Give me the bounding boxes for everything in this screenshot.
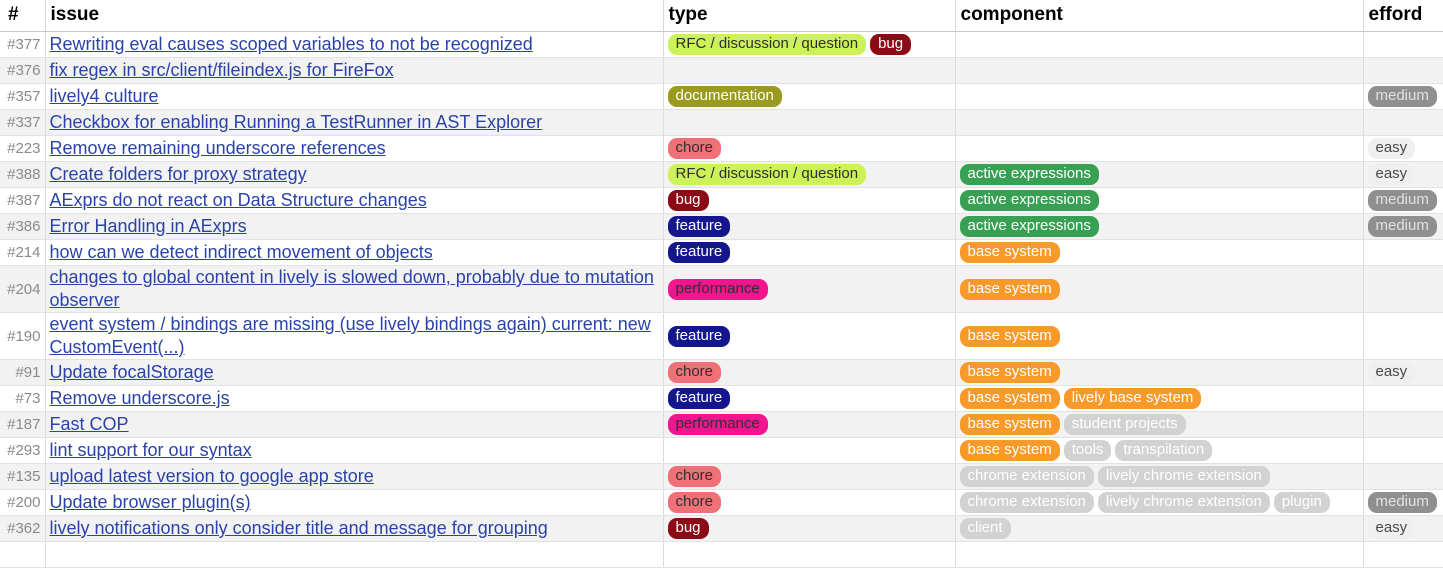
issue-link[interactable]: Create folders for proxy strategy (50, 164, 307, 184)
type-cell: documentation (663, 84, 955, 110)
issue-link[interactable]: lively notifications only consider title… (50, 518, 548, 538)
efford-cell: medium (1363, 188, 1443, 214)
issue-link[interactable]: upload latest version to google app stor… (50, 466, 374, 486)
issue-number: #223 (0, 136, 45, 162)
type-badge[interactable]: feature (668, 242, 731, 263)
issue-title-cell: Remove underscore.js (45, 386, 663, 412)
type-badge[interactable]: chore (668, 138, 722, 159)
issue-link[interactable]: Update focalStorage (50, 362, 214, 382)
component-cell (955, 58, 1363, 84)
issue-number: #204 (0, 266, 45, 313)
table-row[interactable] (0, 542, 1443, 568)
header-row: # issue type component efford (0, 0, 1443, 32)
component-badge[interactable]: base system (960, 362, 1060, 383)
type-cell (663, 542, 955, 568)
column-header-type[interactable]: type (663, 0, 955, 32)
component-badge[interactable]: active expressions (960, 216, 1099, 237)
issue-link[interactable]: event system / bindings are missing (use… (50, 314, 651, 357)
table-row[interactable]: #214how can we detect indirect movement … (0, 240, 1443, 266)
issue-number: #388 (0, 162, 45, 188)
component-cell: base systemtoolstranspilation (955, 438, 1363, 464)
component-badge[interactable]: chrome extension (960, 492, 1094, 513)
efford-cell: easy (1363, 162, 1443, 188)
component-cell (955, 32, 1363, 58)
component-cell: base system (955, 360, 1363, 386)
efford-cell: medium (1363, 490, 1443, 516)
type-badge[interactable]: RFC / discussion / question (668, 164, 867, 185)
component-badge[interactable]: base system (960, 279, 1060, 300)
table-row[interactable]: #91Update focalStoragechorebase systemea… (0, 360, 1443, 386)
efford-cell: easy (1363, 360, 1443, 386)
efford-cell: medium (1363, 214, 1443, 240)
issue-link[interactable]: how can we detect indirect movement of o… (50, 242, 433, 262)
issue-number: #357 (0, 84, 45, 110)
table-row[interactable]: #190event system / bindings are missing … (0, 313, 1443, 360)
type-cell: chore (663, 490, 955, 516)
component-badge[interactable]: tools (1064, 440, 1112, 461)
component-cell (955, 110, 1363, 136)
table-row[interactable]: #200Update browser plugin(s)chorechrome … (0, 490, 1443, 516)
type-cell: bug (663, 516, 955, 542)
component-cell (955, 542, 1363, 568)
issue-title-cell: how can we detect indirect movement of o… (45, 240, 663, 266)
component-cell: active expressions (955, 188, 1363, 214)
component-cell: base system (955, 313, 1363, 360)
type-badge[interactable]: feature (668, 388, 731, 409)
component-cell: active expressions (955, 214, 1363, 240)
efford-cell (1363, 386, 1443, 412)
issue-link[interactable]: changes to global content in lively is s… (50, 267, 654, 310)
issue-title-cell: changes to global content in lively is s… (45, 266, 663, 313)
issue-number: #377 (0, 32, 45, 58)
component-badge[interactable]: client (960, 518, 1011, 539)
efford-cell: easy (1363, 136, 1443, 162)
type-cell: RFC / discussion / question (663, 162, 955, 188)
issue-title-cell: Create folders for proxy strategy (45, 162, 663, 188)
table-row[interactable]: #388Create folders for proxy strategyRFC… (0, 162, 1443, 188)
component-badge[interactable]: chrome extension (960, 466, 1094, 487)
type-badge[interactable]: bug (870, 34, 911, 55)
component-cell: base systemstudent projects (955, 412, 1363, 438)
table-row[interactable]: #135upload latest version to google app … (0, 464, 1443, 490)
issue-title-cell: AExprs do not react on Data Structure ch… (45, 188, 663, 214)
issue-number: #337 (0, 110, 45, 136)
issue-title-cell: fix regex in src/client/fileindex.js for… (45, 58, 663, 84)
table-body: #377Rewriting eval causes scoped variabl… (0, 32, 1443, 568)
issue-number: #187 (0, 412, 45, 438)
component-badge[interactable]: active expressions (960, 164, 1099, 185)
issue-title-cell: upload latest version to google app stor… (45, 464, 663, 490)
efford-cell (1363, 110, 1443, 136)
issue-link[interactable]: Remove remaining underscore references (50, 138, 386, 158)
issue-link[interactable]: AExprs do not react on Data Structure ch… (50, 190, 427, 210)
component-cell (955, 84, 1363, 110)
type-cell: feature (663, 313, 955, 360)
component-cell: base system (955, 266, 1363, 313)
efford-cell (1363, 58, 1443, 84)
issue-number: #387 (0, 188, 45, 214)
type-cell: chore (663, 360, 955, 386)
issue-number: #91 (0, 360, 45, 386)
type-cell (663, 438, 955, 464)
issue-title-cell: Checkbox for enabling Running a TestRunn… (45, 110, 663, 136)
table-row[interactable]: #337Checkbox for enabling Running a Test… (0, 110, 1443, 136)
type-cell: performance (663, 266, 955, 313)
type-cell: feature (663, 386, 955, 412)
type-cell (663, 58, 955, 84)
component-badge[interactable]: lively chrome extension (1098, 466, 1270, 487)
type-badge[interactable]: bug (668, 518, 709, 539)
table-row[interactable]: #187Fast COPperformancebase systemstuden… (0, 412, 1443, 438)
efford-badge[interactable]: easy (1368, 138, 1416, 159)
issue-title-cell (45, 542, 663, 568)
issue-number: #376 (0, 58, 45, 84)
type-badge[interactable]: feature (668, 326, 731, 347)
efford-cell (1363, 542, 1443, 568)
efford-cell (1363, 240, 1443, 266)
issue-link[interactable]: Error Handling in AExprs (50, 216, 247, 236)
type-cell: chore (663, 464, 955, 490)
column-header-efford[interactable]: efford (1363, 0, 1443, 32)
table-row[interactable]: #204changes to global content in lively … (0, 266, 1443, 313)
component-badge[interactable]: lively base system (1064, 388, 1202, 409)
table-row[interactable]: #362lively notifications only consider t… (0, 516, 1443, 542)
component-badge[interactable]: plugin (1274, 492, 1330, 513)
type-badge[interactable]: documentation (668, 86, 782, 107)
component-badge[interactable]: base system (960, 414, 1060, 435)
component-cell: base systemlively base system (955, 386, 1363, 412)
type-cell: feature (663, 214, 955, 240)
type-badge[interactable]: bug (668, 190, 709, 211)
component-cell: client (955, 516, 1363, 542)
issue-title-cell: lively notifications only consider title… (45, 516, 663, 542)
column-header-number[interactable]: # (0, 0, 45, 32)
efford-cell (1363, 438, 1443, 464)
type-badge[interactable]: chore (668, 492, 722, 513)
efford-badge[interactable]: easy (1368, 362, 1416, 383)
issue-link[interactable]: fix regex in src/client/fileindex.js for… (50, 60, 394, 80)
component-cell: active expressions (955, 162, 1363, 188)
type-cell: feature (663, 240, 955, 266)
issue-number: #190 (0, 313, 45, 360)
efford-badge[interactable]: medium (1368, 492, 1437, 513)
efford-cell (1363, 464, 1443, 490)
component-badge[interactable]: base system (960, 326, 1060, 347)
issue-link[interactable]: Fast COP (50, 414, 129, 434)
issue-link[interactable]: lint support for our syntax (50, 440, 252, 460)
component-cell: chrome extensionlively chrome extensionp… (955, 490, 1363, 516)
column-header-component[interactable]: component (955, 0, 1363, 32)
component-badge[interactable]: active expressions (960, 190, 1099, 211)
issue-title-cell: Update focalStorage (45, 360, 663, 386)
column-header-issue[interactable]: issue (45, 0, 663, 32)
type-badge[interactable]: chore (668, 466, 722, 487)
issue-number: #386 (0, 214, 45, 240)
issue-number: #200 (0, 490, 45, 516)
type-badge[interactable]: RFC / discussion / question (668, 34, 867, 55)
issue-number (0, 542, 45, 568)
efford-badge[interactable]: easy (1368, 518, 1416, 539)
component-cell: base system (955, 240, 1363, 266)
table-header: # issue type component efford (0, 0, 1443, 32)
efford-cell: medium (1363, 84, 1443, 110)
issue-table: # issue type component efford #377Rewrit… (0, 0, 1443, 568)
efford-badge[interactable]: medium (1368, 86, 1437, 107)
type-cell: bug (663, 188, 955, 214)
issue-number: #135 (0, 464, 45, 490)
component-badge[interactable]: base system (960, 242, 1060, 263)
type-cell (663, 110, 955, 136)
issue-title-cell: Fast COP (45, 412, 663, 438)
efford-cell: easy (1363, 516, 1443, 542)
efford-cell (1363, 266, 1443, 313)
issue-title-cell: Remove remaining underscore references (45, 136, 663, 162)
issue-title-cell: Update browser plugin(s) (45, 490, 663, 516)
issue-title-cell: Error Handling in AExprs (45, 214, 663, 240)
efford-badge[interactable]: easy (1368, 164, 1416, 185)
issue-number: #73 (0, 386, 45, 412)
efford-cell (1363, 32, 1443, 58)
type-badge[interactable]: feature (668, 216, 731, 237)
type-badge[interactable]: performance (668, 279, 768, 300)
component-badge[interactable]: transpilation (1115, 440, 1212, 461)
table-row[interactable]: #223Remove remaining underscore referenc… (0, 136, 1443, 162)
issue-number: #293 (0, 438, 45, 464)
issue-link[interactable]: Rewriting eval causes scoped variables t… (50, 34, 533, 54)
component-badge[interactable]: base system (960, 440, 1060, 461)
type-badge[interactable]: performance (668, 414, 768, 435)
issue-link[interactable]: Update browser plugin(s) (50, 492, 251, 512)
table-row[interactable]: #357lively4 culturedocumentationmedium (0, 84, 1443, 110)
component-cell: chrome extensionlively chrome extension (955, 464, 1363, 490)
component-cell (955, 136, 1363, 162)
issue-title-cell: lint support for our syntax (45, 438, 663, 464)
efford-badge[interactable]: medium (1368, 216, 1437, 237)
issue-number: #362 (0, 516, 45, 542)
component-badge[interactable]: student projects (1064, 414, 1186, 435)
component-badge[interactable]: lively chrome extension (1098, 492, 1270, 513)
efford-badge[interactable]: medium (1368, 190, 1437, 211)
type-cell: RFC / discussion / questionbug (663, 32, 955, 58)
table-row[interactable]: #376fix regex in src/client/fileindex.js… (0, 58, 1443, 84)
issue-title-cell: lively4 culture (45, 84, 663, 110)
type-badge[interactable]: chore (668, 362, 722, 383)
issue-link[interactable]: lively4 culture (50, 86, 159, 106)
efford-cell (1363, 412, 1443, 438)
efford-cell (1363, 313, 1443, 360)
table-row[interactable]: #293lint support for our syntaxbase syst… (0, 438, 1443, 464)
issue-title-cell: Rewriting eval causes scoped variables t… (45, 32, 663, 58)
issue-title-cell: event system / bindings are missing (use… (45, 313, 663, 360)
table-row[interactable]: #377Rewriting eval causes scoped variabl… (0, 32, 1443, 58)
issue-link[interactable]: Remove underscore.js (50, 388, 230, 408)
issue-link[interactable]: Checkbox for enabling Running a TestRunn… (50, 112, 543, 132)
table-row[interactable]: #387AExprs do not react on Data Structur… (0, 188, 1443, 214)
table-row[interactable]: #386Error Handling in AExprsfeatureactiv… (0, 214, 1443, 240)
type-cell: performance (663, 412, 955, 438)
issue-number: #214 (0, 240, 45, 266)
component-badge[interactable]: base system (960, 388, 1060, 409)
type-cell: chore (663, 136, 955, 162)
table-row[interactable]: #73Remove underscore.jsfeaturebase syste… (0, 386, 1443, 412)
